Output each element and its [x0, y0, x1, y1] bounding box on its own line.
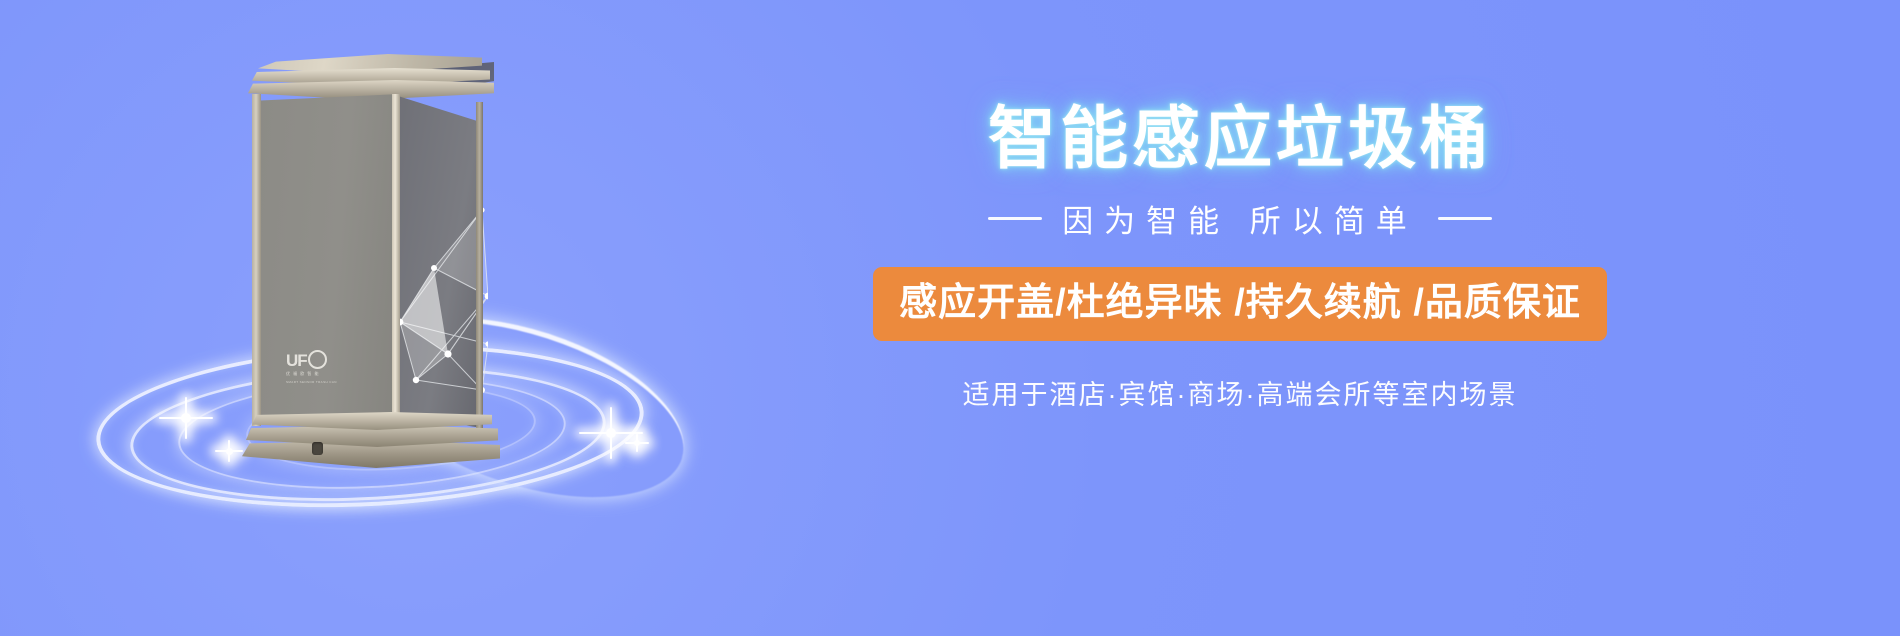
trash-can-base [242, 412, 498, 478]
status-badge: 感应开盖/杜绝异味 /持久续航 /品质保证 [873, 267, 1607, 341]
brand-cn-line: 优 福 欧 智 能 [286, 371, 360, 377]
trash-can-lid [244, 54, 496, 100]
polygon-mesh-icon [396, 204, 488, 414]
brand-circle-icon [308, 350, 327, 369]
tagline: 适用于酒店·宾馆·商场·高端会所等室内场景 [735, 373, 1745, 412]
product-stage: UF 优 福 欧 智 能 SMART SENSOR TRASH CAN [60, 30, 720, 590]
sensor-icon [312, 442, 323, 455]
product-promo-banner: UF 优 福 欧 智 能 SMART SENSOR TRASH CAN 智能感应… [0, 0, 1900, 636]
smart-trash-can-image: UF 优 福 欧 智 能 SMART SENSOR TRASH CAN [236, 54, 504, 454]
subtitle-row: 因为智能 所以简单 [735, 196, 1745, 241]
banner-copy: 智能感应垃圾桶 因为智能 所以简单 感应开盖/杜绝异味 /持久续航 /品质保证 … [735, 96, 1745, 412]
body-edge-center [392, 94, 400, 428]
page-title: 智能感应垃圾桶 [735, 96, 1745, 182]
feature-badge-row: 感应开盖/杜绝异味 /持久续航 /品质保证 [735, 267, 1745, 341]
dash-right-icon [1438, 217, 1492, 220]
brand-wordmark: UF [286, 350, 360, 369]
brand-en-line: SMART SENSOR TRASH CAN [286, 380, 360, 384]
body-edge-left [252, 94, 261, 426]
subtitle: 因为智能 所以简单 [1062, 196, 1418, 241]
body-edge-right [476, 102, 483, 428]
dash-left-icon [988, 217, 1042, 220]
brand-logo: UF 优 福 欧 智 能 SMART SENSOR TRASH CAN [286, 350, 360, 396]
